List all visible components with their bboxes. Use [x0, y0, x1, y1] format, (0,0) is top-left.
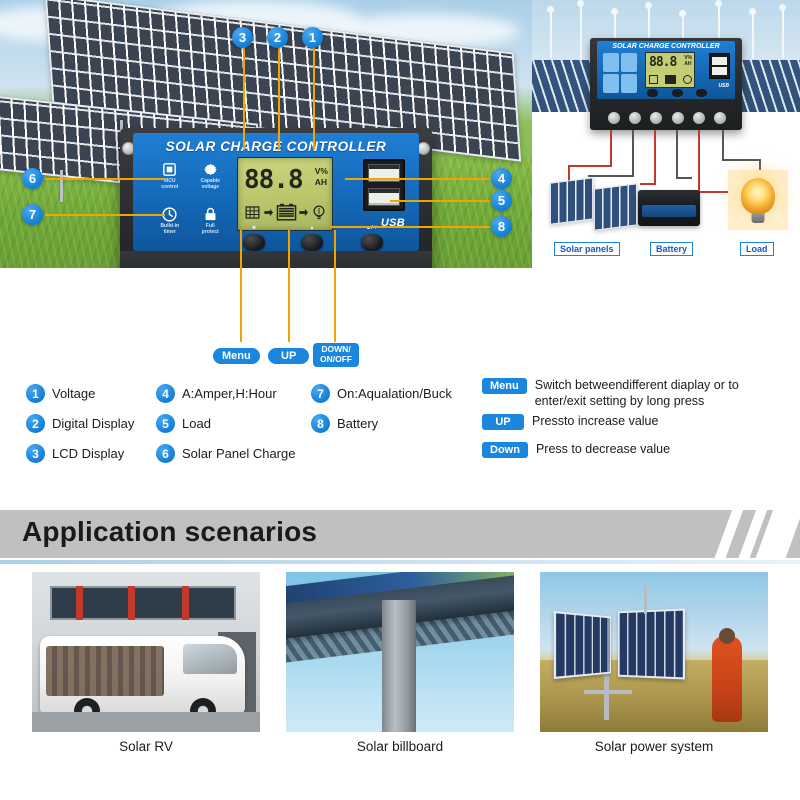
- wire: [722, 130, 724, 160]
- lock-icon: [202, 206, 219, 223]
- leader-line-6: [45, 178, 165, 180]
- wire: [654, 130, 656, 184]
- up-button[interactable]: ▲: [301, 234, 323, 251]
- wire: [568, 165, 612, 167]
- solar-panel-icon: [243, 203, 262, 222]
- legend-item-2: 2 Digital Display: [26, 414, 134, 433]
- legend-badge-2: 2: [26, 414, 45, 433]
- feature-buildin-timer: Build-in timer: [151, 204, 189, 246]
- menu-button-cap: ■: [252, 225, 255, 231]
- legend-badge-6: 6: [156, 444, 175, 463]
- wiring-lcd-digits: 88.8: [649, 55, 676, 70]
- arrow-right-icon: [263, 207, 274, 218]
- callout-badge-6[interactable]: 6: [22, 168, 43, 189]
- caption-up-label: UP: [268, 348, 309, 364]
- callout-badge-5[interactable]: 5: [491, 190, 512, 211]
- wiring-load-box: [728, 170, 788, 230]
- legend-item-8: 8 Battery: [311, 414, 378, 433]
- leader-line-3: [243, 45, 245, 150]
- key-chip-menu[interactable]: Menu: [482, 378, 527, 394]
- legend-item-6: 6 Solar Panel Charge: [156, 444, 295, 463]
- feature-capable-voltage: Capable voltage: [192, 159, 230, 201]
- wiring-usb-label: USB: [718, 83, 729, 89]
- feature-label: control: [161, 185, 178, 190]
- legend-item-1: 1 Voltage: [26, 384, 95, 403]
- legend-text-2: Digital Display: [52, 416, 134, 431]
- legend-text-8: Battery: [337, 416, 378, 431]
- legend-text-5: Load: [182, 416, 211, 431]
- caption-menu-label: Menu: [213, 348, 260, 364]
- leader-line-8: [330, 226, 490, 228]
- feature-label: protect: [202, 230, 219, 235]
- lcd-unit-top: V%: [315, 166, 328, 177]
- legend-badge-7: 7: [311, 384, 330, 403]
- key-desc-up: Pressto increase value: [532, 414, 658, 430]
- leader-line-2: [278, 45, 280, 150]
- lcd-flow-icons: [243, 199, 328, 225]
- key-chip-down[interactable]: Down: [482, 442, 528, 458]
- wire: [698, 130, 700, 192]
- light-bulb-icon: [741, 178, 775, 214]
- key-desc-down: Press to decrease value: [536, 442, 670, 458]
- feature-label: Full: [206, 224, 215, 229]
- legend-badge-8: 8: [311, 414, 330, 433]
- legend-text-4: A:Amper,H:Hour: [182, 386, 277, 401]
- wire: [676, 130, 678, 178]
- product-overview-section: SOLAR CHARGE CONTROLLER MCU control: [0, 0, 800, 490]
- legend-text-1: Voltage: [52, 386, 95, 401]
- wire: [588, 175, 634, 177]
- legend-text-3: LCD Display: [52, 446, 124, 461]
- band-underline: [0, 560, 800, 564]
- device-title: SOLAR CHARGE CONTROLLER: [133, 139, 419, 154]
- wiring-solar-panel: [550, 177, 594, 224]
- callout-badge-1[interactable]: 1: [302, 27, 323, 48]
- legend-text-7: On:Aqualation/Buck: [337, 386, 452, 401]
- wire: [722, 159, 760, 161]
- battery-icon: [275, 202, 298, 222]
- scenario-photo-rv: [32, 572, 260, 732]
- wiring-solar-panel: [594, 183, 638, 230]
- leader-line-1: [313, 45, 315, 150]
- leader-line-up: [288, 230, 290, 342]
- key-row-menu: Menu Switch betweendifferent diaplay or …: [482, 378, 792, 409]
- scenario-caption-billboard: Solar billboard: [286, 739, 514, 754]
- lcd-units: V% AH: [315, 166, 328, 187]
- feature-label: Build-in: [160, 224, 179, 229]
- legend-badge-3: 3: [26, 444, 45, 463]
- scenario-caption-power-system: Solar power system: [540, 739, 768, 754]
- gear-icon: [202, 161, 219, 178]
- feature-icon-grid: MCU control Capable voltage: [151, 159, 229, 245]
- device-terminal-block: + − + − + −: [120, 251, 432, 268]
- callout-badge-8[interactable]: 8: [491, 216, 512, 237]
- caption-down-chip[interactable]: DOWN/ ON/OFF: [313, 343, 359, 367]
- wire: [640, 183, 656, 185]
- usb-ports: [363, 159, 405, 211]
- feature-full-protect: Full protect: [192, 204, 230, 246]
- legend-item-5: 5 Load: [156, 414, 211, 433]
- feature-label: timer: [164, 230, 176, 235]
- callout-badge-3[interactable]: 3: [232, 27, 253, 48]
- lcd-digits: 88.8: [244, 165, 303, 195]
- wire: [676, 177, 692, 179]
- leader-line-5: [390, 200, 490, 202]
- down-button[interactable]: ▲/▼: [361, 234, 383, 251]
- wire: [632, 130, 634, 176]
- feature-label: voltage: [201, 185, 219, 190]
- wiring-label-load: Load: [740, 242, 774, 256]
- legend-badge-4: 4: [156, 384, 175, 403]
- light-bulb-icon: [310, 203, 328, 222]
- scenario-caption-rv: Solar RV: [32, 739, 260, 754]
- legend-badge-1: 1: [26, 384, 45, 403]
- band-slash-decoration: [680, 510, 800, 558]
- menu-button[interactable]: ■: [243, 234, 265, 251]
- scenario-solar-billboard: Solar billboard: [286, 572, 514, 752]
- key-desc-menu: Switch betweendifferent diaplay or to en…: [535, 378, 785, 409]
- lcd-display: 88.8 V% AH: [237, 157, 333, 231]
- solar-charge-controller-device: SOLAR CHARGE CONTROLLER MCU control: [120, 128, 432, 268]
- leader-line-down: [334, 230, 336, 342]
- usb-port: [368, 188, 400, 206]
- wiring-label-battery: Battery: [650, 242, 693, 256]
- lcd-unit-bottom: AH: [315, 177, 328, 188]
- application-scenarios-section: Application scenarios Solar RV: [0, 490, 800, 800]
- wiring-diagram-photo: SOLAR CHARGE CONTROLLER 88.8 V% AH: [532, 0, 800, 268]
- caption-down-label: DOWN/ ON/OFF: [313, 343, 359, 367]
- leader-line-7: [45, 214, 165, 216]
- scenarios-heading: Application scenarios: [22, 516, 317, 548]
- leader-line-4: [345, 178, 490, 180]
- caption-menu-chip[interactable]: Menu: [213, 346, 260, 364]
- leader-line-menu: [240, 230, 242, 342]
- arrow-right-icon: [298, 207, 309, 218]
- scenario-photo-row: Solar RV Solar billboard: [0, 572, 800, 752]
- callout-badge-7[interactable]: 7: [22, 204, 43, 225]
- caption-up-chip[interactable]: UP: [268, 346, 309, 364]
- wire: [610, 130, 612, 166]
- legend-text-6: Solar Panel Charge: [182, 446, 295, 461]
- wiring-controller-device: SOLAR CHARGE CONTROLLER 88.8 V% AH: [590, 38, 742, 130]
- callout-badge-2[interactable]: 2: [267, 27, 288, 48]
- up-button-cap: ▲: [309, 225, 314, 231]
- device-faceplate: SOLAR CHARGE CONTROLLER MCU control: [133, 133, 419, 251]
- legend-badge-5: 5: [156, 414, 175, 433]
- scenario-solar-power-system: Solar power system: [540, 572, 768, 752]
- scenario-solar-rv: Solar RV: [32, 572, 260, 752]
- key-chip-up[interactable]: UP: [482, 414, 524, 430]
- wiring-device-title: SOLAR CHARGE CONTROLLER: [597, 43, 735, 50]
- key-row-up: UP Pressto increase value: [482, 414, 792, 430]
- chip-icon: [161, 161, 178, 178]
- scenario-photo-power-system: [540, 572, 768, 732]
- scenario-photo-billboard: [286, 572, 514, 732]
- legend-item-7: 7 On:Aqualation/Buck: [311, 384, 452, 403]
- legend-item-3: 3 LCD Display: [26, 444, 124, 463]
- wiring-lcd-unit-bottom: AH: [684, 61, 692, 67]
- key-row-down: Down Press to decrease value: [482, 442, 792, 458]
- legend-item-4: 4 A:Amper,H:Hour: [156, 384, 277, 403]
- legend-section: 1 Voltage 2 Digital Display 3 LCD Displa…: [0, 372, 800, 490]
- wiring-battery: [638, 190, 700, 226]
- callout-badge-4[interactable]: 4: [491, 168, 512, 189]
- wiring-label-solar-panels: Solar panels: [554, 242, 620, 256]
